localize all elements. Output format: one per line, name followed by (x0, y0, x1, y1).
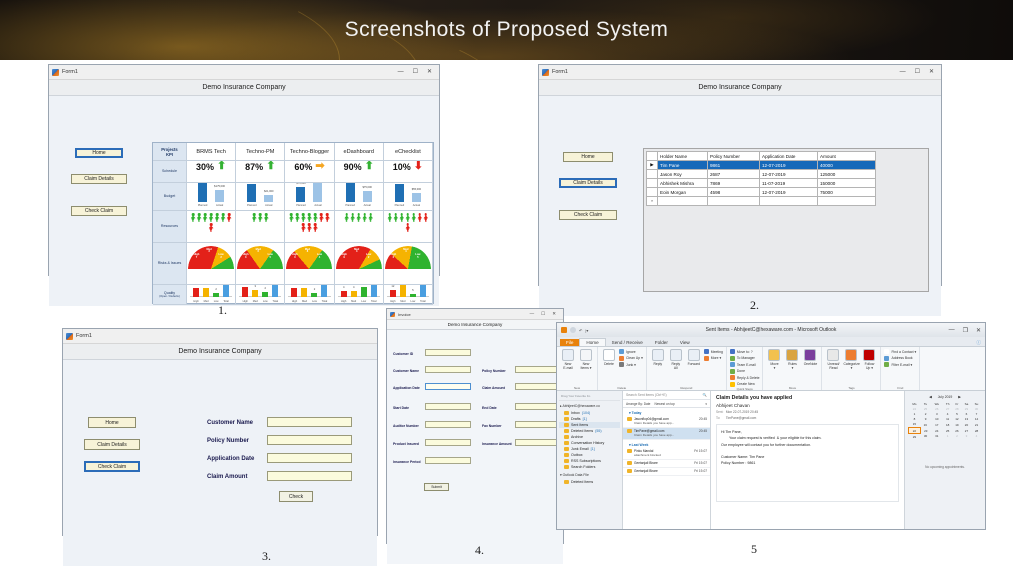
calendar-day[interactable]: 31 (931, 434, 943, 440)
app-icon (66, 333, 73, 340)
claims-table: Holder Name Policy Number Application Da… (646, 151, 876, 206)
ribbon-small-button-list: IgnoreClean Up ▾Junk ▾ (619, 349, 643, 367)
maximize-icon[interactable]: ☐ (915, 69, 920, 75)
resource-person-red (313, 223, 318, 232)
folder-icon (564, 453, 569, 457)
message-time: Fri 19-07 (694, 469, 707, 473)
message-preview: Claim Details you have app... (627, 421, 707, 425)
input-insurance-amount[interactable] (515, 439, 561, 446)
resource-person-green (203, 213, 208, 222)
search-icon[interactable]: 🔍 (703, 393, 707, 397)
next-month-button[interactable]: ▶ (958, 395, 961, 399)
outlook-message-list[interactable]: Search Sent Items (Ctrl+E) 🔍 Arrange By:… (623, 391, 711, 529)
ribbon-small-button-icon (884, 356, 889, 361)
shot2-company-header: Demo Insurance Company (539, 80, 941, 96)
folder-icon (564, 459, 569, 463)
ribbon-small-button-label: Address Book (891, 356, 912, 360)
nav-folder-deleted-items[interactable]: Deleted Items (559, 479, 620, 485)
shot3-body: Home Claim Details Check Claim Customer … (63, 360, 377, 566)
input-claim-amount[interactable] (515, 383, 561, 390)
ribbon-small-button-icon (619, 356, 624, 361)
shot1-company-header: Demo Insurance Company (49, 80, 439, 96)
figure-caption: 4. (475, 543, 484, 558)
kpi-schedule-cell: 90%⬆ (335, 161, 384, 183)
list-item[interactable]: TimPane@gmail.com20:45Claim Details you … (623, 428, 710, 440)
resource-person-green (258, 213, 263, 222)
arrange-by[interactable]: Arrange By: Date (626, 402, 650, 406)
table-cell[interactable]: 40000 (818, 161, 876, 170)
kpi-budget-cell: $64,000Planned $55,000Actual (384, 183, 433, 211)
kpi-schedule-cell: 60%➡ (285, 161, 334, 183)
row-indicator[interactable] (647, 170, 658, 179)
envelope-icon (627, 461, 632, 465)
table-row[interactable]: Jason Roy268712-07-2019125000 (647, 170, 876, 179)
ribbon-small-button-icon (704, 349, 709, 354)
kpi-budget-cell: $100,000Planned $21,000Actual (236, 183, 285, 211)
ribbon-button[interactable]: OneNote (802, 349, 818, 366)
screenshot-5-outlook-window: ↶ |▾ Sent Items - AbhijeetC@hexaware.com… (556, 322, 986, 530)
ribbon-small-button[interactable]: Move to: ? (730, 349, 760, 354)
shot1-nav-claim-details[interactable]: Claim Details (71, 174, 127, 184)
row-indicator[interactable] (647, 188, 658, 197)
tab-view[interactable]: View (674, 339, 696, 346)
quality-bar-label: Low (411, 300, 416, 303)
table-cell[interactable]: 12-07-2019 (760, 170, 818, 179)
screenshot-1-dashboard-window: Form1 — ☐ ✕ Demo Insurance Company Home … (48, 64, 440, 276)
resource-person-red (319, 213, 324, 222)
input-application-date[interactable] (267, 453, 352, 463)
calendar-day[interactable]: 2 (952, 434, 961, 440)
quality-bar: 4Med (301, 288, 307, 297)
ribbon-group: Move▾Rules▾OneNoteMove (763, 347, 822, 390)
kpi-row-label-schedule: Schedule (153, 161, 187, 183)
table-cell[interactable]: 4598 (708, 188, 760, 197)
screenshot-4-invoice-window: Invoice — ☐ ✕ Demo Insurance Company Cus… (386, 308, 564, 544)
ribbon-button[interactable]: ReplyAll (668, 349, 684, 370)
ribbon-small-button-label: Team E-mail (737, 363, 756, 367)
table-cell[interactable]: Jason Roy (658, 170, 708, 179)
ribbon-small-button[interactable]: To Manager (730, 356, 760, 361)
ribbon-button[interactable]: FollowUp ▾ (861, 349, 877, 370)
quality-bar-value: 5 (412, 289, 414, 292)
resource-person-green (221, 213, 226, 222)
kpi-resources-cell (285, 211, 334, 243)
table-cell[interactable]: 7869 (708, 179, 760, 188)
no-appointments-text: No upcoming appointments. (908, 465, 982, 469)
kpi-col-header: Techno-PM (236, 143, 285, 161)
tab-folder[interactable]: Folder (649, 339, 674, 346)
ribbon-small-button[interactable]: Find a Contact ▾ (884, 349, 916, 354)
risk-gauge-label: Med3 (354, 249, 359, 254)
kpi-schedule-cell: 10%⬇ (384, 161, 433, 183)
ribbon-button-icon (603, 349, 615, 361)
message-recipient: Geetanjali Birare (634, 469, 658, 473)
kpi-schedule-cell: 87%⬆ (236, 161, 285, 183)
table-cell[interactable]: 11-07-2019 (760, 179, 818, 188)
list-item[interactable]: Geetanjali BirareFri 19-07 (623, 468, 710, 476)
help-icon[interactable]: ⓘ (976, 340, 985, 346)
check-button[interactable]: Check (279, 491, 313, 502)
kpi-row-label-risks: Risks & Issues (153, 243, 187, 285)
shot2-nav-check-claim[interactable]: Check Claim (559, 210, 617, 220)
calendar-day[interactable]: 4 (971, 434, 981, 440)
col-amount[interactable]: Amount (818, 152, 876, 161)
col-holder-name[interactable]: Holder Name (658, 152, 708, 161)
ribbon-small-button-icon (884, 362, 889, 367)
nav-folder-label: RSS Subscriptions (571, 459, 601, 463)
ribbon-button-icon (863, 349, 875, 361)
ribbon-small-button-list: Find a Contact ▾Address BookFilter E-mai… (884, 349, 916, 367)
message-recipient: Geetanjali Birare (634, 461, 658, 465)
input-policy-number[interactable] (267, 435, 352, 445)
table-row[interactable]: ▶Tim Pane986112-07-201940000 (647, 161, 876, 170)
slide-title: Screenshots of Proposed System (0, 0, 1013, 60)
ribbon-group: Find a Contact ▾Address BookFilter E-mai… (881, 347, 920, 390)
table-cell[interactable] (708, 197, 760, 206)
ribbon-button-label: NewItems ▾ (578, 362, 594, 370)
table-cell[interactable]: 150000 (818, 179, 876, 188)
label-product-insured: Product Insured (393, 442, 419, 446)
ribbon-button-icon (827, 349, 839, 361)
nav-folder-label: Sent Items (571, 423, 588, 427)
ribbon-small-button[interactable]: Address Book (884, 356, 916, 361)
table-cell[interactable]: 12-07-2019 (760, 188, 818, 197)
nav-folder-count: [1] (583, 417, 587, 421)
shot3-nav-claim-details[interactable]: Claim Details (84, 439, 140, 450)
label-insurance-amount: Insurance Amount (482, 442, 512, 446)
input-end-date[interactable] (515, 403, 561, 410)
shot3-nav-home[interactable]: Home (88, 417, 136, 428)
app-icon (542, 69, 549, 76)
kpi-col-header: BRMS Tech (187, 143, 236, 161)
quality-bar-value: 2 (265, 287, 267, 290)
label-customer-name: Customer Name (393, 369, 419, 373)
row-indicator[interactable]: * (647, 197, 658, 206)
prev-month-button[interactable]: ◀ (929, 395, 932, 399)
outlook-ribbon-tabs[interactable]: File Home Send / Receive Folder View ⓘ (557, 337, 985, 347)
resource-person-red (417, 213, 422, 222)
shot2-nav-home[interactable]: Home (563, 152, 613, 162)
table-row[interactable]: Eoin Morgan459812-07-201975000 (647, 188, 876, 197)
ribbon-small-button[interactable]: More ▾ (704, 356, 723, 361)
kpi-row-label-quality: Quality(Open / Defects) (153, 285, 187, 305)
resource-person-green (411, 213, 416, 222)
ribbon-group-name: Respond (650, 386, 723, 390)
account-node[interactable]: ▸ AbhijeetC@hexaware.co (559, 401, 620, 410)
datafile-node[interactable]: ▾ Outlook Data File (559, 470, 620, 479)
quality-bar-value: 4 (205, 285, 207, 286)
shot3-window-title: Form1 (76, 333, 92, 339)
resource-person-red (227, 213, 232, 222)
ribbon-button-icon (580, 349, 592, 361)
table-cell[interactable] (818, 197, 876, 206)
calendar-month-label: July 2019 (938, 395, 953, 399)
input-customer-id[interactable] (425, 349, 471, 356)
row-indicator[interactable]: ▶ (647, 161, 658, 170)
minimize-icon[interactable]: — (398, 69, 404, 75)
ribbon-button[interactable]: Forward (686, 349, 702, 366)
ribbon-small-button-icon (704, 356, 709, 361)
outlook-navigation-pane[interactable]: Drag Your Favorite Fo ▸ AbhijeetC@hexawa… (557, 391, 623, 529)
folder-icon (564, 411, 569, 415)
ribbon-button[interactable]: NewItems ▾ (578, 349, 594, 370)
ribbon-button-icon (562, 349, 574, 361)
table-cell[interactable]: Abhishek Mishra (658, 179, 708, 188)
risk-gauge-label: Low2 (218, 254, 223, 259)
maximize-icon[interactable]: ☐ (413, 69, 418, 75)
calendar-header: ◀ July 2019 ▶ (908, 394, 982, 401)
table-cell[interactable]: Eoin Morgan (658, 188, 708, 197)
restore-icon[interactable]: ❐ (963, 327, 968, 334)
quality-bar-label: Low (361, 300, 366, 303)
resource-person-red (307, 223, 312, 232)
input-customer-name[interactable] (425, 366, 471, 373)
ribbon-small-button-icon (619, 349, 624, 354)
kpi-budget-cell: $75,000Planned $64,700Actual (285, 183, 334, 211)
message-time: Fri 19-07 (694, 461, 707, 465)
ribbon-button-label: Delete (601, 362, 617, 366)
ribbon-small-button-label: Meeting (711, 350, 723, 354)
shot1-nav-check-claim[interactable]: Check Claim (71, 206, 127, 216)
quality-bar-label: Med (302, 300, 307, 303)
ribbon-button[interactable]: Categorize▾ (843, 349, 859, 370)
ribbon-button[interactable]: Delete (601, 349, 617, 366)
minimize-icon[interactable]: — (949, 327, 955, 334)
folder-icon (564, 417, 569, 421)
quality-bar-label: High (341, 300, 346, 303)
kpi-resources-cell (384, 211, 433, 243)
ribbon-group-name: Tags (825, 386, 877, 390)
minimize-icon[interactable]: — (530, 312, 535, 317)
nav-folder-label: Junk Email (571, 447, 589, 451)
quality-bar: 10Total (321, 285, 327, 297)
table-cell[interactable] (760, 197, 818, 206)
ribbon-small-button[interactable]: Done (730, 369, 760, 374)
quality-bar-label: Med (204, 300, 209, 303)
chevron-down-icon[interactable]: ▾ (705, 402, 707, 406)
quality-bar-label: Total (273, 300, 278, 303)
list-item[interactable]: Jasonflop04@gmail.com20:45Claim Details … (623, 416, 710, 428)
quality-bar: 10Total (223, 285, 229, 297)
folder-icon (564, 447, 569, 451)
table-cell[interactable]: 2687 (708, 170, 760, 179)
quality-bar-value: 4 (195, 285, 197, 286)
table-cell[interactable]: 9861 (708, 161, 760, 170)
nav-folder-label: Drafts (571, 417, 581, 421)
folder-icon (564, 435, 569, 439)
input-auditor-number[interactable] (425, 421, 471, 428)
ribbon-button-label: Reply (650, 362, 666, 366)
label-policy-number: Policy Number (482, 369, 506, 373)
resource-person-green (399, 213, 404, 222)
figure-caption: 5 (751, 542, 757, 557)
ribbon-small-button-label: Move to: ? (737, 350, 753, 354)
quality-bar-label: Total (420, 300, 425, 303)
shot1-nav-home[interactable]: Home (75, 148, 123, 158)
kpi-quality-cell: 12High20Med5Low37Total (384, 285, 433, 305)
list-item[interactable]: Pinku MandalFri 19-07attachment blocked (623, 448, 710, 460)
quality-bar: 37Total (420, 285, 426, 297)
submit-button[interactable]: Submit (424, 483, 449, 491)
input-application-date[interactable] (425, 383, 471, 390)
quality-bar: 2Low (262, 292, 268, 297)
risk-gauge-label: Low5 (415, 254, 420, 259)
outlook-calendar-peek[interactable]: ◀ July 2019 ▶ MoTuWeThFrSaSu 24252627282… (905, 391, 985, 529)
ribbon-small-button[interactable]: Team E-mail (730, 362, 760, 367)
arrange-bar[interactable]: Arrange By: Date Newest on top ▾ (623, 400, 710, 408)
input-product-insured[interactable] (425, 439, 471, 446)
shot4-body: Customer ID Customer Name Application Da… (387, 330, 563, 564)
ribbon-small-button-list: Move to: ?To ManagerTeam E-mailDoneReply… (730, 349, 760, 387)
resource-person-green (362, 213, 367, 222)
close-icon[interactable]: ✕ (976, 327, 981, 334)
risk-gauge: High3Med6Low5 (237, 246, 283, 269)
figure-caption: 1. (218, 303, 227, 318)
input-claim-amount[interactable] (267, 471, 352, 481)
ribbon-small-button-icon (619, 362, 624, 367)
table-cell[interactable] (658, 197, 708, 206)
risk-gauge-label: High3 (243, 254, 249, 259)
input-insurance-period[interactable] (425, 457, 471, 464)
label-start-date: Start Date (393, 406, 409, 410)
shot4-company-header: Demo Insurance Company (387, 320, 563, 330)
shot1-body: Home Claim Details Check Claim ProjectsK… (49, 96, 439, 306)
screenshot-3-check-claim-window: Form1 Demo Insurance Company Home Claim … (62, 328, 378, 536)
message-group-header[interactable]: ▾ Last Week (623, 440, 710, 448)
quality-bar: 2Low (311, 293, 317, 297)
list-item[interactable]: Geetanjali BirareFri 19-07 (623, 460, 710, 468)
shot3-nav-check-claim[interactable]: Check Claim (84, 461, 140, 472)
ribbon-small-button[interactable]: Junk ▾ (619, 362, 643, 367)
label-customer-name: Customer Name (207, 420, 253, 426)
quality-bar-label: High (193, 300, 198, 303)
calendar-grid[interactable]: MoTuWeThFrSaSu 2425262728293012345678910… (908, 401, 982, 439)
quality-bar-label: High (292, 300, 297, 303)
claims-datagrid[interactable]: Holder Name Policy Number Application Da… (643, 148, 929, 292)
outlook-window-title: Sent Items - AbhijeetC@hexaware.com - Mi… (557, 327, 985, 333)
nav-folder-label: Deleted Items (571, 429, 593, 433)
ribbon-small-button[interactable]: Reply & Delete (730, 375, 760, 380)
kpi-risks-cell: High3Med8Low4 (285, 243, 334, 285)
kpi-col-header: eChecklist (384, 143, 433, 161)
outlook-ribbon[interactable]: NewE-mailNewItems ▾NewDeleteIgnoreClean … (557, 347, 985, 391)
resource-person-green (350, 213, 355, 222)
tab-file[interactable]: File (560, 339, 579, 346)
calendar-day[interactable]: 29 (909, 434, 921, 440)
row-indicator-header (647, 152, 658, 161)
input-fax-number[interactable] (515, 421, 561, 428)
maximize-icon[interactable]: ☐ (541, 312, 545, 317)
outlook-main-area: Drag Your Favorite Fo ▸ AbhijeetC@hexawa… (557, 391, 985, 529)
close-icon[interactable]: ✕ (929, 69, 934, 75)
message-time: Fri 19-07 (694, 449, 707, 453)
ribbon-small-button-label: Clean Up ▾ (626, 356, 643, 360)
kpi-budget-cell: $71,000Planned $75,000Actual (335, 183, 384, 211)
table-row[interactable]: Abhishek Mishra786911-07-2019150000 (647, 179, 876, 188)
ribbon-button[interactable]: Reply (650, 349, 666, 366)
col-policy-number[interactable]: Policy Number (708, 152, 760, 161)
shot2-nav-claim-details[interactable]: Claim Details (559, 178, 617, 188)
ribbon-button[interactable]: Move▾ (766, 349, 782, 370)
folder-icon (564, 423, 569, 427)
search-sent-items-input[interactable]: Search Sent Items (Ctrl+E) 🔍 (623, 391, 710, 400)
email-sent-meta: Sent: Mon 22-07-2019 20:45 (716, 410, 899, 414)
table-cell[interactable]: 12-07-2019 (760, 161, 818, 170)
ribbon-button[interactable]: NewE-mail (560, 349, 576, 370)
calendar-day[interactable]: 30 (920, 434, 930, 440)
ribbon-button[interactable]: Unread/Read (825, 349, 841, 370)
calendar-day[interactable]: 3 (961, 434, 971, 440)
ribbon-button-label: OneNote (802, 362, 818, 366)
message-group-header[interactable]: ▾ Today (623, 408, 710, 416)
resource-person-red (301, 223, 306, 232)
tab-send-receive[interactable]: Send / Receive (606, 339, 649, 346)
email-body: Hi Tim Pane, Your claim request is verif… (716, 424, 899, 502)
input-customer-name[interactable] (267, 417, 352, 427)
table-cell[interactable]: Tim Pane (658, 161, 708, 170)
label-fax-number: Fax Number (482, 424, 502, 428)
label-application-date: Application Date (207, 456, 254, 462)
col-application-date[interactable]: Application Date (760, 152, 818, 161)
ribbon-group: ReplyReplyAllForwardMeetingMore ▾Respond (647, 347, 727, 390)
slide-banner: Screenshots of Proposed System (0, 0, 1013, 60)
ribbon-small-button[interactable]: Filter E-mail ▾ (884, 362, 916, 367)
nav-folder-label: Inbox (571, 411, 580, 415)
ribbon-button[interactable]: Rules▾ (784, 349, 800, 370)
quality-bar-label: Low (263, 300, 268, 303)
kpi-dashboard-table: ProjectsKPI BRMS Tech Techno-PM Techno-B… (152, 142, 434, 304)
table-cell[interactable]: 75000 (818, 188, 876, 197)
resource-person-green (215, 213, 220, 222)
ribbon-button-label: NewE-mail (560, 362, 576, 370)
shot2-titlebar: Form1 — ☐ ✕ (539, 65, 941, 80)
ribbon-small-button[interactable]: Ignore (619, 349, 643, 354)
close-icon[interactable]: ✕ (427, 69, 432, 75)
calendar-week-row: 2930311234 (909, 434, 982, 440)
favorites-header: Drag Your Favorite Fo (559, 393, 620, 401)
nav-folder-label: Archive (571, 435, 583, 439)
figure-caption: 2. (750, 298, 759, 313)
table-cell[interactable]: 125000 (818, 170, 876, 179)
ribbon-button-label: Categorize▾ (843, 362, 859, 370)
row-indicator[interactable] (647, 179, 658, 188)
calendar-day[interactable]: 1 (943, 434, 953, 440)
resource-person-green (368, 213, 373, 222)
input-policy-number[interactable] (515, 366, 561, 373)
quality-bar: 4High (193, 288, 199, 297)
tab-home[interactable]: Home (579, 338, 605, 346)
sort-order[interactable]: Newest on top (654, 402, 674, 406)
ribbon-small-button[interactable]: Clean Up ▾ (619, 356, 643, 361)
input-start-date[interactable] (425, 403, 471, 410)
minimize-icon[interactable]: — (900, 69, 906, 75)
nav-folder-label: Deleted Items (571, 480, 593, 484)
resource-person-green (393, 213, 398, 222)
ribbon-button-label: Forward (686, 362, 702, 366)
ribbon-small-button-icon (730, 362, 735, 367)
table-row[interactable]: * (647, 197, 876, 206)
ribbon-small-button-icon (730, 349, 735, 354)
close-icon[interactable]: ✕ (552, 312, 556, 317)
resource-person-red (423, 213, 428, 222)
ribbon-small-button-list: MeetingMore ▾ (704, 349, 723, 361)
ribbon-group-name: Move (766, 386, 818, 390)
kpi-quality-cell: 4High3Med2Low9Total (236, 285, 285, 305)
label-policy-number: Policy Number (207, 438, 249, 444)
app-icon (52, 69, 59, 76)
ribbon-small-button[interactable]: Meeting (704, 349, 723, 354)
ribbon-small-button-label: Filter E-mail ▾ (891, 363, 912, 367)
